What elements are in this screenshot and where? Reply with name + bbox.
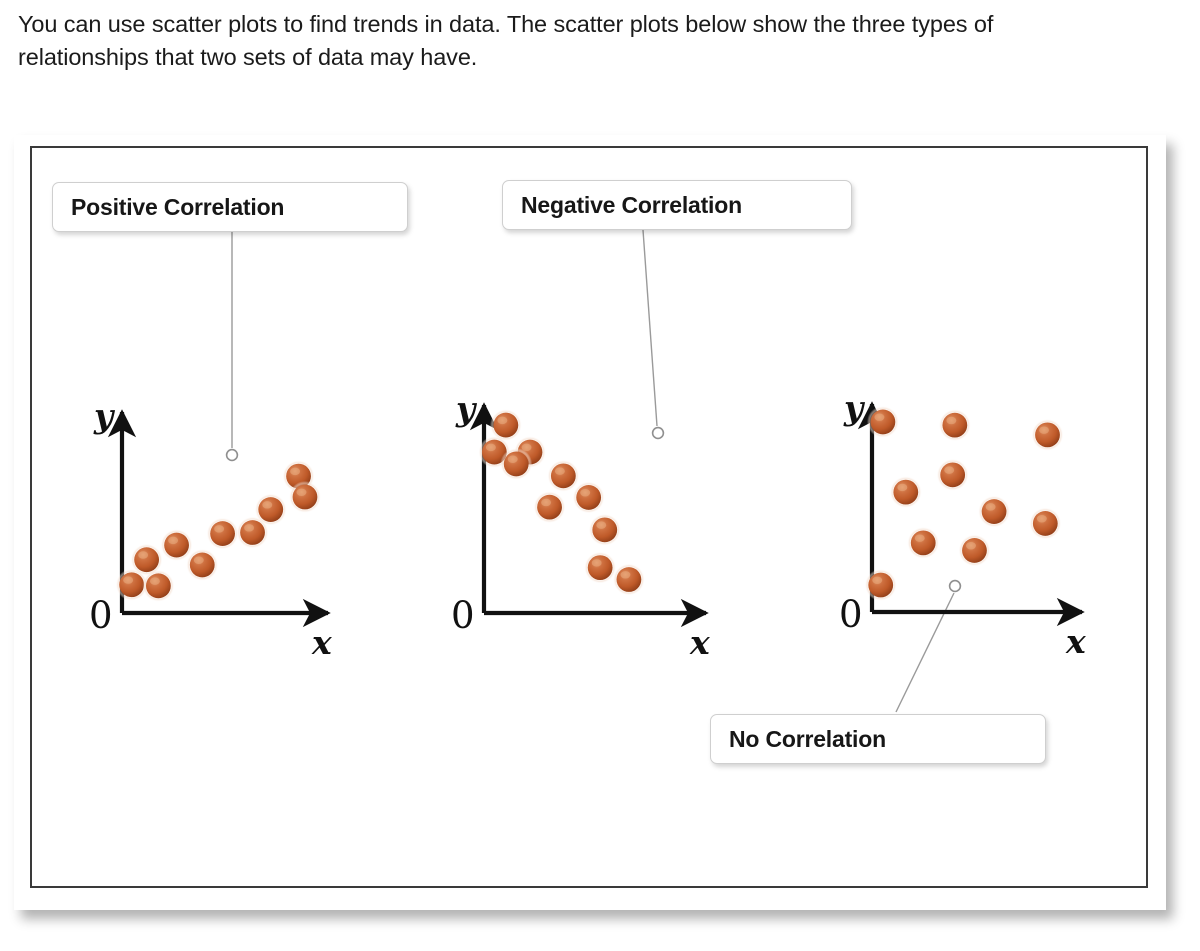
callout-no-correlation-label: No Correlation bbox=[729, 726, 886, 753]
callout-negative-correlation-label: Negative Correlation bbox=[521, 192, 742, 219]
figure-card bbox=[14, 135, 1166, 910]
intro-paragraph: You can use scatter plots to find trends… bbox=[18, 8, 1108, 74]
callout-positive-correlation[interactable]: Positive Correlation bbox=[52, 182, 408, 232]
callout-negative-correlation[interactable]: Negative Correlation bbox=[502, 180, 852, 230]
callout-no-correlation[interactable]: No Correlation bbox=[710, 714, 1046, 764]
figure-frame bbox=[30, 146, 1148, 888]
callout-positive-correlation-label: Positive Correlation bbox=[71, 194, 284, 221]
